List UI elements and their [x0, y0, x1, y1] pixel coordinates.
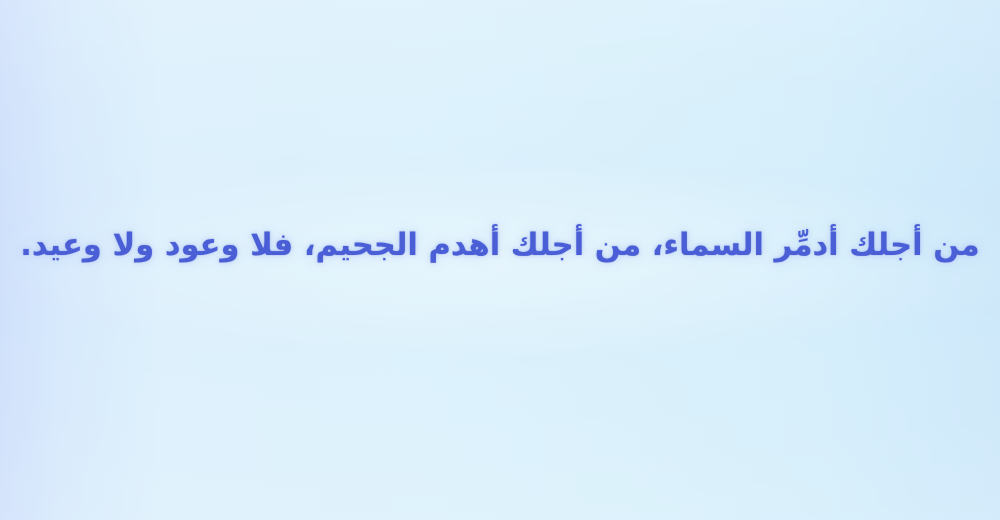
quote-text: من أجلك أدمِّر السماء، من أجلك أهدم الجح… [20, 227, 979, 265]
quote-line: من أجلك أدمِّر السماء، من أجلك أهدم الجح… [0, 213, 1000, 279]
quote-canvas: من أجلك أدمِّر السماء، من أجلك أهدم الجح… [0, 0, 1000, 520]
